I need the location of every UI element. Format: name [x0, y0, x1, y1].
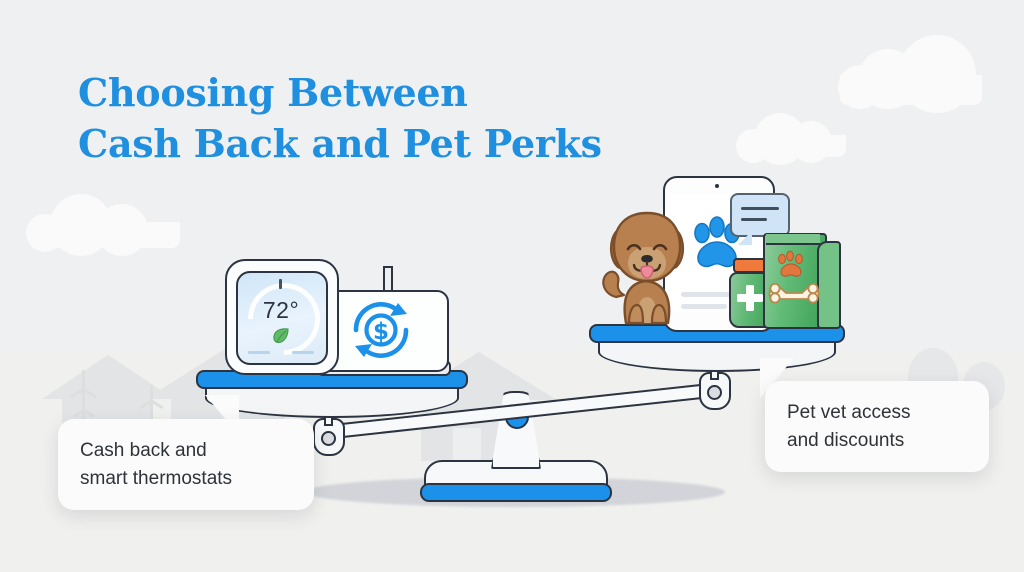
cloud-icon	[840, 75, 982, 105]
cash-back-icon: $	[344, 301, 418, 359]
paw-print-icon	[775, 250, 807, 280]
page-title-line-2: Cash Back and Pet Perks	[78, 119, 602, 170]
pet-food-bag-fold	[766, 234, 820, 245]
right-callout: Pet vet access and discounts	[765, 381, 989, 472]
pet-food-bag-side	[817, 241, 841, 329]
svg-text:$: $	[373, 319, 389, 345]
page-title: Choosing Between Cash Back and Pet Perks	[78, 68, 602, 170]
cloud-icon	[30, 222, 180, 248]
thermostat-indicator-line	[248, 351, 270, 354]
tablet-camera-icon	[715, 184, 719, 188]
medical-cross-icon	[737, 294, 763, 302]
bone-icon	[768, 282, 820, 306]
left-callout: Cash back and smart thermostats	[58, 419, 314, 510]
cloud-icon	[740, 135, 846, 157]
thermostat-tick	[279, 279, 282, 289]
thermostat-indicator-line	[292, 351, 314, 354]
scale-base-strip	[420, 483, 612, 502]
eco-leaf-icon	[271, 327, 291, 345]
dog-illustration	[596, 205, 702, 333]
chat-bubble-tail	[738, 231, 752, 245]
page-title-line-1: Choosing Between	[78, 68, 602, 119]
thermostat-temperature: 72°	[257, 297, 305, 324]
illustration-canvas: $ 72°	[0, 0, 1024, 572]
